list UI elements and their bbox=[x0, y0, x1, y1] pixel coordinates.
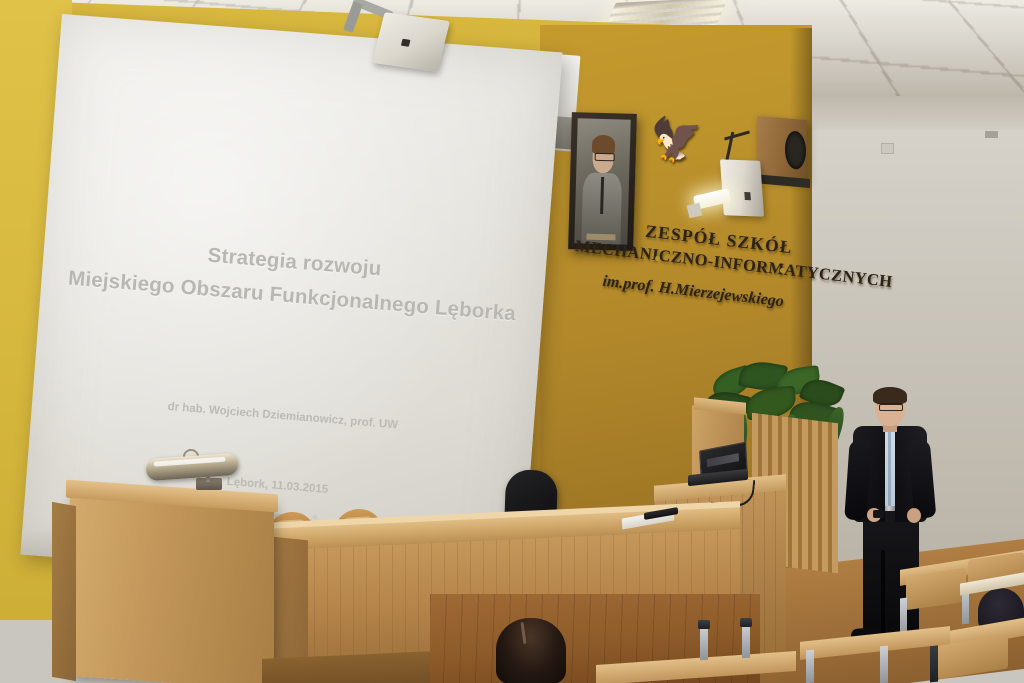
portrait-hair bbox=[592, 135, 616, 154]
presenter-hand-right bbox=[907, 508, 921, 523]
hair-part bbox=[520, 622, 526, 644]
projector-lens-icon bbox=[401, 39, 411, 47]
wall-screw bbox=[780, 268, 785, 273]
lecture-hall-scene: Strategia rozwoju Miejskiego Obszaru Fun… bbox=[0, 0, 1024, 683]
podium-lamp-highlight bbox=[154, 457, 226, 467]
presenter bbox=[845, 390, 937, 658]
seat-armrest-cap bbox=[740, 618, 752, 627]
wall-mark bbox=[985, 131, 998, 138]
wooden-speaker bbox=[757, 116, 807, 182]
foreground-attendee bbox=[496, 618, 566, 683]
wall-outlet bbox=[881, 143, 894, 154]
slide-author: dr hab. Wojciech Dziemianowicz, prof. UW bbox=[32, 390, 533, 442]
projector-icon bbox=[372, 12, 450, 72]
presenter-remote[interactable] bbox=[873, 510, 884, 518]
framed-portrait bbox=[568, 112, 637, 251]
podium-side bbox=[52, 502, 76, 681]
seat-metal-frame bbox=[700, 626, 708, 661]
portrait-canvas bbox=[574, 118, 630, 244]
polish-eagle-emblem-icon: 🦅 bbox=[649, 117, 685, 166]
podium bbox=[70, 487, 274, 683]
wall-screw bbox=[655, 256, 660, 261]
presenter-glasses-icon bbox=[877, 403, 903, 410]
presenter-leg-split bbox=[881, 550, 885, 636]
seat-metal-frame bbox=[880, 646, 888, 683]
portrait-glasses-icon bbox=[594, 153, 614, 162]
speaker-cone-icon bbox=[785, 130, 806, 170]
seat-armrest-cap bbox=[698, 620, 710, 629]
seat-metal-frame bbox=[806, 650, 814, 683]
seat-metal-frame bbox=[742, 624, 750, 659]
presenter-hair bbox=[873, 387, 907, 404]
right-wall-upper-band bbox=[806, 96, 1024, 130]
